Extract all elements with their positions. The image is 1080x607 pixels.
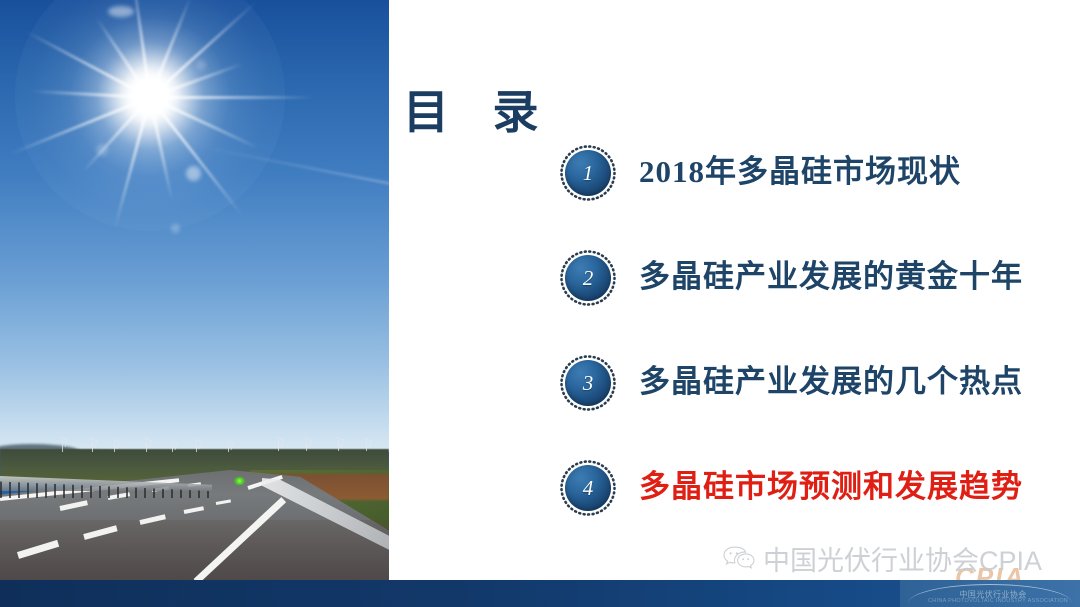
item-number-badge: 4: [559, 459, 617, 517]
badge-number: 2: [565, 255, 611, 301]
sunny-sky-over-highway-photo: [0, 0, 389, 607]
wind-turbine: [172, 443, 173, 452]
badge-number: 4: [565, 465, 611, 511]
sun-core: [132, 78, 168, 114]
presentation-slide: 目 录 1 2018年多晶硅市场现状: [0, 0, 1080, 607]
lens-flare: [186, 166, 201, 181]
wechat-icon: [722, 545, 756, 573]
wind-turbine: [92, 441, 93, 452]
list-item[interactable]: 3 多晶硅产业发展的几个热点: [389, 354, 1080, 459]
list-item[interactable]: 2 多晶硅产业发展的黄金十年: [389, 249, 1080, 354]
wind-turbine: [338, 440, 339, 451]
wind-turbine: [62, 440, 63, 452]
badge-number: 3: [565, 360, 611, 406]
list-item[interactable]: 1 2018年多晶硅市场现状: [389, 144, 1080, 249]
item-number-badge: 3: [559, 354, 617, 412]
wind-turbine: [114, 442, 115, 452]
sun-ray: [150, 96, 315, 99]
list-item-label: 多晶硅市场预测和发展趋势: [639, 465, 1023, 509]
lens-flare: [171, 224, 180, 233]
lens-flare: [96, 144, 108, 156]
lens-flare: [196, 60, 206, 70]
item-number-badge: 1: [559, 144, 617, 202]
watermark-text: 中国光伏行业协会CPIA: [763, 539, 1042, 578]
green-light-spot: [234, 477, 245, 485]
wechat-watermark: 中国光伏行业协会CPIA: [722, 539, 1042, 578]
lens-flare: [108, 6, 134, 17]
wind-turbine: [146, 441, 147, 452]
list-item-label: 多晶硅产业发展的几个热点: [639, 360, 1023, 404]
badge-number: 1: [565, 150, 611, 196]
table-of-contents-list: 1 2018年多晶硅市场现状 2 多晶硅产业发展的黄金十年: [389, 144, 1080, 564]
list-item-label: 2018年多晶硅市场现状: [639, 150, 961, 194]
wind-turbine: [306, 441, 307, 451]
wind-turbine: [278, 440, 279, 451]
road-shading: [0, 520, 389, 582]
item-number-badge: 2: [559, 249, 617, 307]
list-item-label: 多晶硅产业发展的黄金十年: [639, 255, 1023, 299]
wind-turbine: [366, 441, 367, 451]
footer-logo-subtext: CHINA PHOTOVOLTAIC INDUSTRY ASSOCIATION: [928, 598, 1058, 604]
wind-turbine: [196, 442, 197, 452]
wind-turbine: [228, 443, 229, 452]
slide-content-area: 目 录 1 2018年多晶硅市场现状: [389, 0, 1080, 607]
page-title: 目 录: [403, 76, 555, 142]
